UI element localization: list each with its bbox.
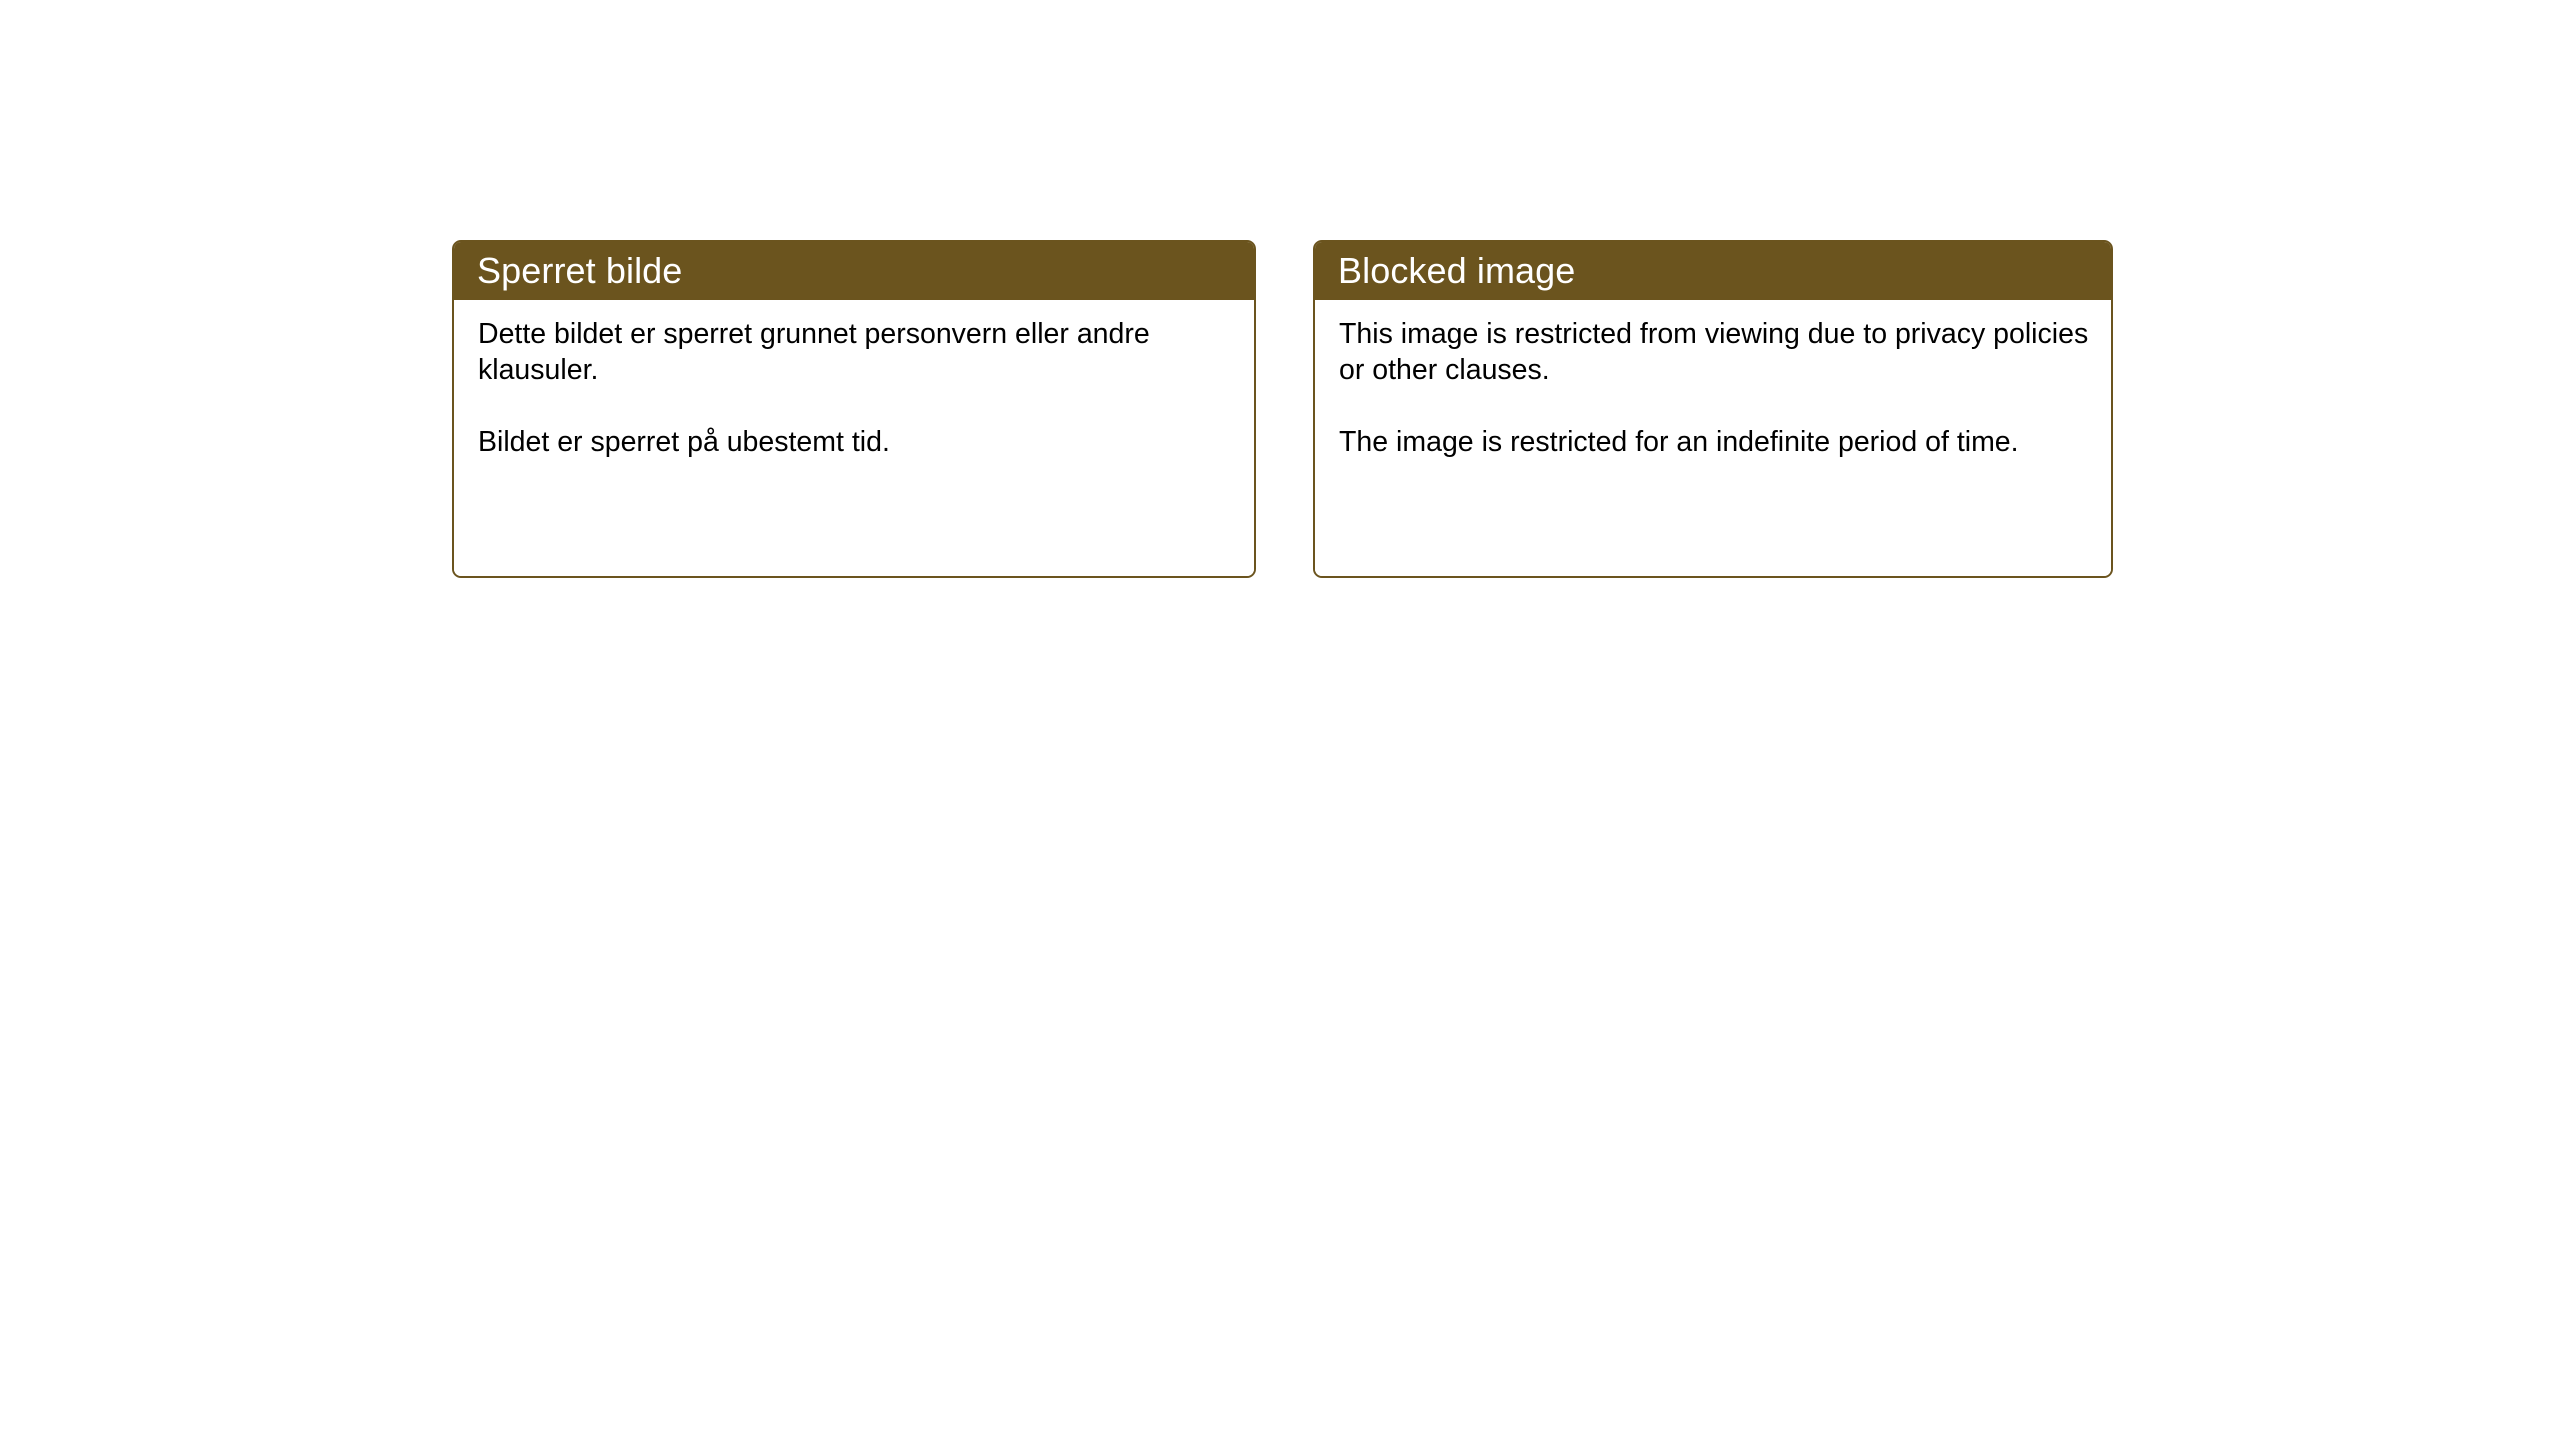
blocked-image-card-english: Blocked image This image is restricted f…	[1313, 240, 2113, 578]
blocked-image-notices: Sperret bilde Dette bildet er sperret gr…	[452, 240, 2113, 578]
notice-card-row: Sperret bilde Dette bildet er sperret gr…	[452, 240, 2113, 578]
card-title-english: Blocked image	[1338, 251, 1575, 291]
card-header-english: Blocked image	[1315, 242, 2111, 300]
card-body-english: This image is restricted from viewing du…	[1315, 300, 2111, 576]
blocked-image-card-norwegian: Sperret bilde Dette bildet er sperret gr…	[452, 240, 1256, 578]
card-paragraph-duration-english: The image is restricted for an indefinit…	[1339, 424, 2089, 460]
card-body-norwegian: Dette bildet er sperret grunnet personve…	[454, 300, 1254, 576]
page-root: { "page": { "background_color": "#ffffff…	[0, 0, 2560, 1440]
card-title-norwegian: Sperret bilde	[477, 251, 682, 291]
card-paragraph-duration-norwegian: Bildet er sperret på ubestemt tid.	[478, 424, 1232, 460]
card-header-norwegian: Sperret bilde	[454, 242, 1254, 300]
card-paragraph-reason-english: This image is restricted from viewing du…	[1339, 316, 2089, 388]
card-paragraph-reason-norwegian: Dette bildet er sperret grunnet personve…	[478, 316, 1232, 388]
